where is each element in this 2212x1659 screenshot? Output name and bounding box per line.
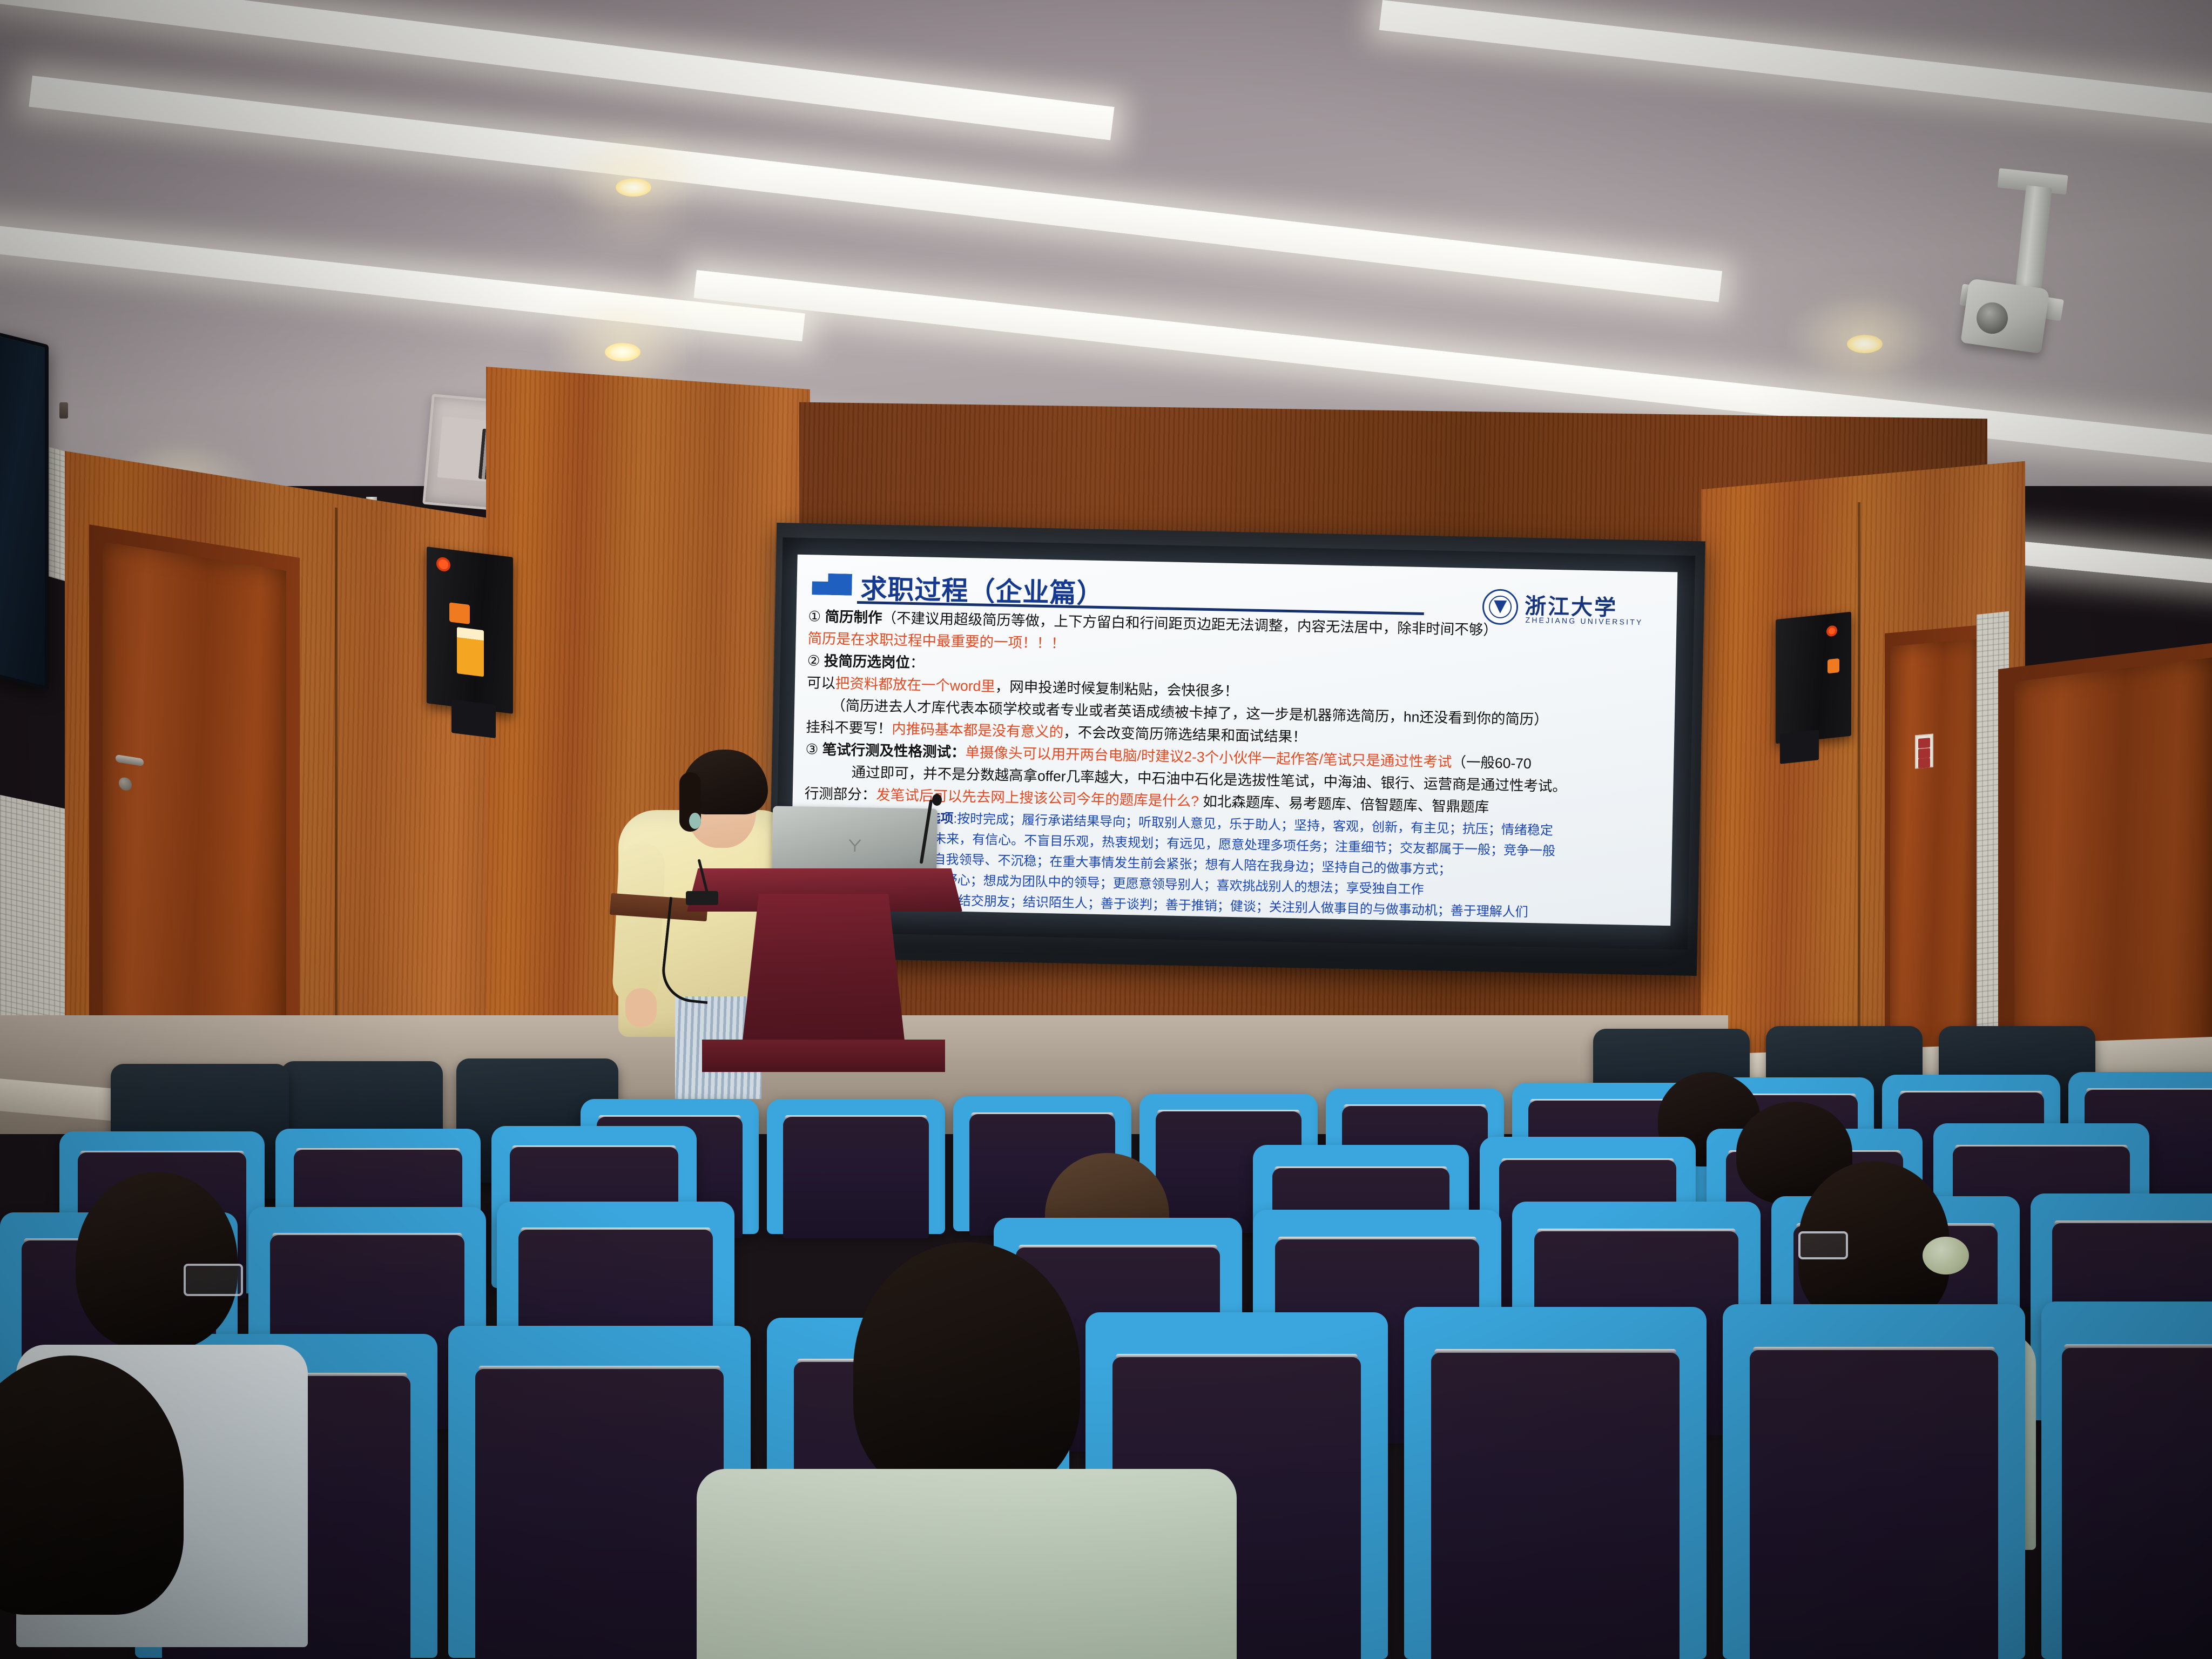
hair-scrunchie bbox=[1923, 1237, 1969, 1274]
speaker-brand-logo-icon bbox=[1826, 625, 1837, 637]
seat[interactable] bbox=[1723, 1304, 2025, 1659]
slide-text-segment: 简历制作 bbox=[825, 609, 882, 626]
speaker-sticker bbox=[449, 602, 470, 624]
eyeglasses-icon bbox=[184, 1264, 243, 1296]
eyeglasses-icon bbox=[1798, 1231, 1848, 1259]
wall-speaker-left bbox=[427, 547, 513, 714]
slide-text-segment: 挂科不要写！ bbox=[806, 719, 892, 737]
downlight bbox=[616, 178, 651, 197]
slide-text-segment: 把资料都放在一个word里 bbox=[835, 675, 995, 694]
microphone-head-icon bbox=[932, 794, 942, 806]
slide-text-segment: ② bbox=[807, 652, 824, 669]
zju-seal-icon bbox=[1482, 589, 1518, 625]
downlight bbox=[605, 343, 640, 361]
slide-text-segment: 发笔试后可以先去网上搜该公司今年的题库是什么? bbox=[876, 787, 1199, 810]
slide-text-segment: ，不会改变简历筛选结果和面试结果！ bbox=[1063, 724, 1307, 745]
slide-text-segment: 简历是在求职过程中最重要的一项！！！ bbox=[807, 630, 1065, 652]
speaker-bracket bbox=[1780, 730, 1819, 764]
slide-text-segment: ① bbox=[808, 608, 825, 625]
exit-sign bbox=[1915, 734, 1933, 769]
presenter-arm bbox=[611, 841, 666, 1006]
seat[interactable] bbox=[767, 1099, 945, 1234]
audience-head bbox=[853, 1242, 1080, 1496]
audience-shoulders bbox=[697, 1469, 1237, 1659]
speaker-brand-logo-icon bbox=[436, 556, 450, 572]
slide-text-segment: 如北森题库、易考题库、倍智题库、智鼎题库 bbox=[1199, 793, 1489, 815]
podium-base bbox=[702, 1040, 945, 1072]
slide-text-segment: ，网申投递时候复制粘贴，会快很多！ bbox=[995, 678, 1239, 699]
slide-text-segment: ： bbox=[910, 655, 925, 671]
logo-english-name: ZHEJIANG UNIVERSITY bbox=[1525, 616, 1643, 626]
slide-text-segment: ③ bbox=[805, 741, 822, 758]
lecture-hall-scene: 求职过程（企业篇） 浙江大学 ZHEJIANG UNIVERSITY ① 简历制… bbox=[0, 0, 2212, 1659]
university-logo: 浙江大学 ZHEJIANG UNIVERSITY bbox=[1482, 588, 1644, 631]
title-marker-icon bbox=[812, 573, 852, 595]
slide-text-segment: 行测部分： bbox=[805, 785, 876, 803]
audience-head bbox=[76, 1172, 238, 1350]
wall-speaker-right bbox=[1776, 612, 1851, 744]
slide-text-segment: 投简历选岗位 bbox=[824, 653, 911, 671]
downlight bbox=[1847, 335, 1883, 353]
presenter-earring bbox=[689, 813, 701, 829]
slide-text-segment: 笔试行测及性格测试： bbox=[822, 741, 966, 760]
slide-text-segment: 内推码基本都是没有意义的 bbox=[892, 720, 1064, 740]
speaker-bracket bbox=[451, 699, 496, 738]
laptop-brand-icon bbox=[845, 836, 864, 855]
speaker-sticker bbox=[1827, 658, 1839, 673]
downlight-glow bbox=[551, 135, 713, 216]
cove-light-strip bbox=[1379, 0, 2212, 132]
fire-sprinkler-icon bbox=[59, 402, 68, 419]
wall-mounted-tv bbox=[0, 330, 49, 690]
seat[interactable] bbox=[1404, 1307, 1707, 1659]
seat[interactable] bbox=[2041, 1301, 2212, 1659]
slide-text-segment: （一般60-70 bbox=[1452, 754, 1532, 772]
presenter-hand bbox=[625, 988, 657, 1027]
slide-text-segment: 可以 bbox=[807, 675, 836, 691]
speaker-label-sticker bbox=[457, 627, 484, 677]
